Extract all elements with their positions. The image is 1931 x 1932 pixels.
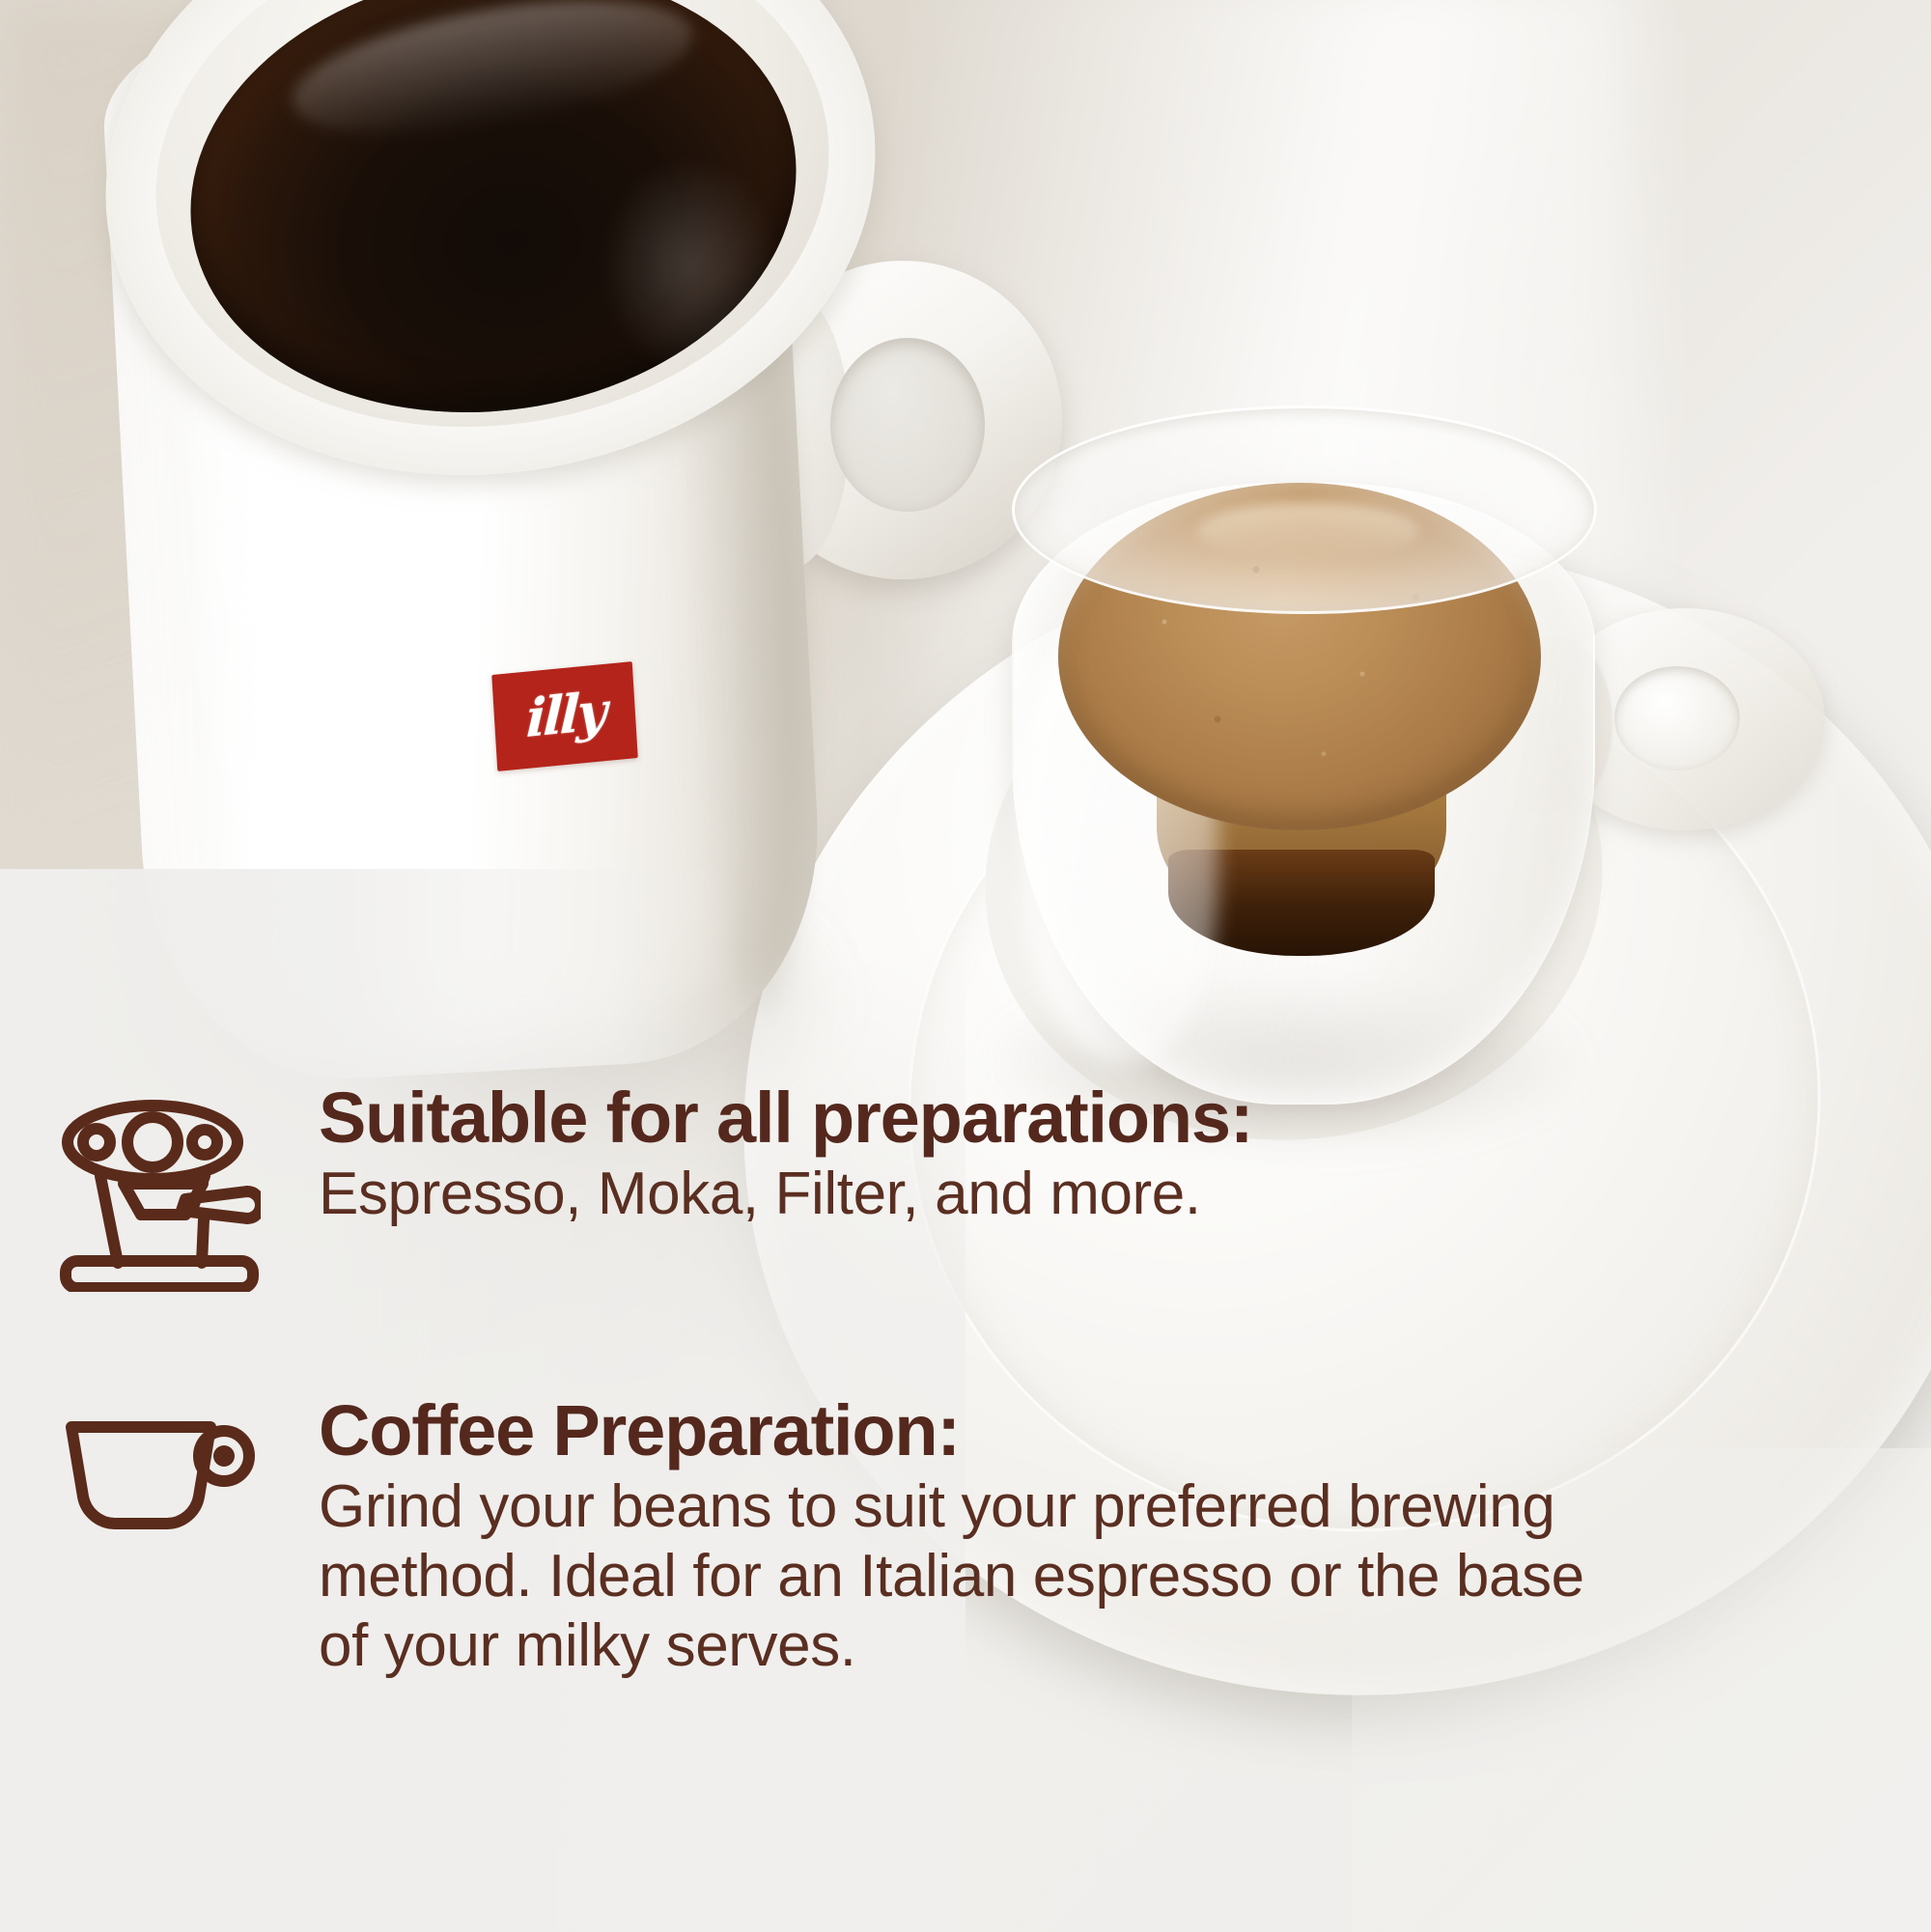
glass-rim bbox=[1012, 406, 1597, 614]
feature-title: Suitable for all preparations: bbox=[319, 1081, 1252, 1154]
product-info-card: illy bbox=[0, 0, 1931, 1932]
espresso-machine-icon bbox=[0, 1081, 319, 1292]
feature-item-preparation-method: Coffee Preparation: Grind your beans to … bbox=[0, 1394, 1931, 1681]
feature-body: Grind your beans to suit your preferred … bbox=[319, 1472, 1603, 1681]
illy-logo-text: illy bbox=[525, 685, 605, 744]
feature-text-preparation-method: Coffee Preparation: Grind your beans to … bbox=[319, 1394, 1603, 1681]
illy-logo: illy bbox=[491, 661, 638, 771]
feature-item-preparations: Suitable for all preparations: Espresso,… bbox=[0, 1081, 1931, 1292]
coffee-cup-icon bbox=[0, 1394, 319, 1547]
feature-text-preparations: Suitable for all preparations: Espresso,… bbox=[319, 1081, 1252, 1229]
feature-list: Suitable for all preparations: Espresso,… bbox=[0, 1081, 1931, 1681]
feature-body: Espresso, Moka, Filter, and more. bbox=[319, 1160, 1252, 1229]
glass-handle-hole bbox=[1614, 666, 1740, 770]
mug-handle-hole bbox=[830, 338, 985, 512]
feature-title: Coffee Preparation: bbox=[319, 1394, 1603, 1467]
coffee-highlight-secondary bbox=[599, 154, 782, 377]
